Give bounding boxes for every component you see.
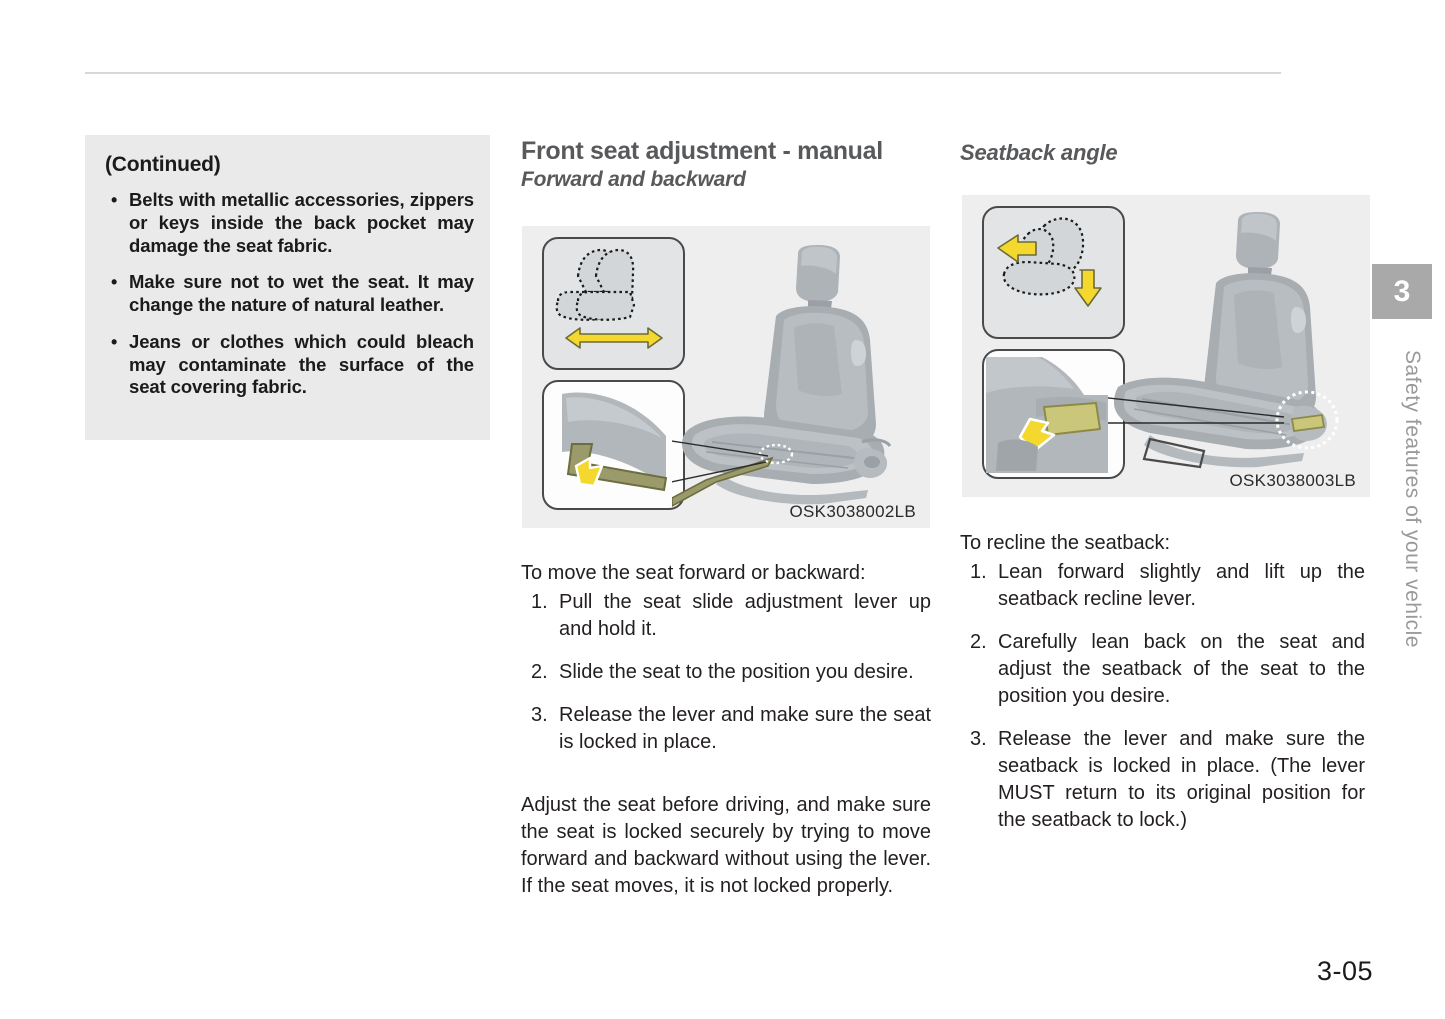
step-number: 3. <box>531 702 548 729</box>
warning-item-text: Jeans or clothes which could bleach may … <box>129 331 474 398</box>
step-number: 1. <box>970 559 987 586</box>
arrow-down-icon <box>1075 270 1101 306</box>
figure-seatback-angle: OSK3038003LB <box>962 195 1370 497</box>
step-number: 1. <box>531 589 548 616</box>
continued-warning-box: (Continued) • Belts with metallic access… <box>85 135 490 440</box>
intro-text: To move the seat forward or backward: <box>521 560 931 587</box>
bullet-glyph: • <box>111 331 117 353</box>
adjust-seat-paragraph: Adjust the seat before driving, and make… <box>521 792 931 900</box>
list-item: • Make sure not to wet the seat. It may … <box>103 271 474 317</box>
list-item: • Jeans or clothes which could bleach ma… <box>103 331 474 399</box>
list-item: 1. Pull the seat slide adjustment lever … <box>521 589 931 643</box>
inset-recline-lever-closeup <box>982 349 1125 479</box>
inset-seat-travel-diagram <box>542 237 685 370</box>
page-number: 3-05 <box>1317 956 1373 987</box>
step-text: Carefully lean back on the seat and adju… <box>998 631 1365 707</box>
seatback-steps: 1. Lean forward slightly and lift up the… <box>960 559 1365 834</box>
middle-column-headings: Front seat adjustment - manual Forward a… <box>521 137 931 192</box>
step-number: 2. <box>531 659 548 686</box>
step-text: Pull the seat slide adjustment lever up … <box>559 591 931 640</box>
manual-page: (Continued) • Belts with metallic access… <box>0 0 1445 1019</box>
list-item: 2. Slide the seat to the position you de… <box>521 659 931 686</box>
warning-box-title: (Continued) <box>105 153 474 177</box>
front-seat-illustration <box>672 244 930 512</box>
recline-travel-icon <box>984 208 1123 337</box>
list-item: 2. Carefully lean back on the seat and a… <box>960 629 1365 710</box>
list-item: • Belts with metallic accessories, zippe… <box>103 189 474 257</box>
slide-lever-closeup-icon <box>544 382 683 508</box>
figure-seat-forward-backward: OSK3038002LB <box>522 226 930 528</box>
step-text: Slide the seat to the position you desir… <box>559 661 914 683</box>
list-item: 3. Release the lever and make sure the s… <box>521 702 931 756</box>
section-subheading: Forward and backward <box>521 168 931 192</box>
section-subheading: Seatback angle <box>960 140 1365 166</box>
warning-item-text: Belts with metallic accessories, zippers… <box>129 189 474 256</box>
list-item: 3. Release the lever and make sure the s… <box>960 726 1365 834</box>
step-text: Lean forward slightly and lift up the se… <box>998 561 1365 610</box>
right-column-headings: Seatback angle <box>960 138 1365 166</box>
step-text: Release the lever and make sure the seat… <box>559 704 931 753</box>
step-text: Release the lever and make sure the seat… <box>998 728 1365 831</box>
right-column-body: To recline the seatback: 1. Lean forward… <box>960 530 1365 834</box>
step-number: 2. <box>970 629 987 656</box>
intro-text: To recline the seatback: <box>960 530 1365 557</box>
seatback-seat-illustration <box>1108 211 1370 483</box>
warning-bullet-list: • Belts with metallic accessories, zippe… <box>103 189 474 399</box>
figure-code: OSK3038003LB <box>1230 471 1356 491</box>
chapter-tab-label: Safety features of your vehicle <box>1380 350 1424 750</box>
step-number: 3. <box>970 726 987 753</box>
bullet-glyph: • <box>111 271 117 293</box>
header-divider <box>85 72 1281 74</box>
forward-backward-steps: 1. Pull the seat slide adjustment lever … <box>521 589 931 756</box>
bullet-glyph: • <box>111 189 117 211</box>
recline-lever-closeup-icon <box>984 351 1123 477</box>
section-heading: Front seat adjustment - manual <box>521 137 931 166</box>
warning-item-text: Make sure not to wet the seat. It may ch… <box>129 271 474 315</box>
middle-column-body: To move the seat forward or backward: 1.… <box>521 560 931 900</box>
figure-code: OSK3038002LB <box>790 502 916 522</box>
chapter-number: 3 <box>1372 264 1432 319</box>
seat-travel-icon <box>544 239 683 368</box>
inset-slide-lever-closeup <box>542 380 685 510</box>
double-arrow-icon <box>566 328 662 348</box>
chapter-tab: 3 <box>1372 264 1432 319</box>
inset-recline-diagram <box>982 206 1125 339</box>
list-item: 1. Lean forward slightly and lift up the… <box>960 559 1365 613</box>
